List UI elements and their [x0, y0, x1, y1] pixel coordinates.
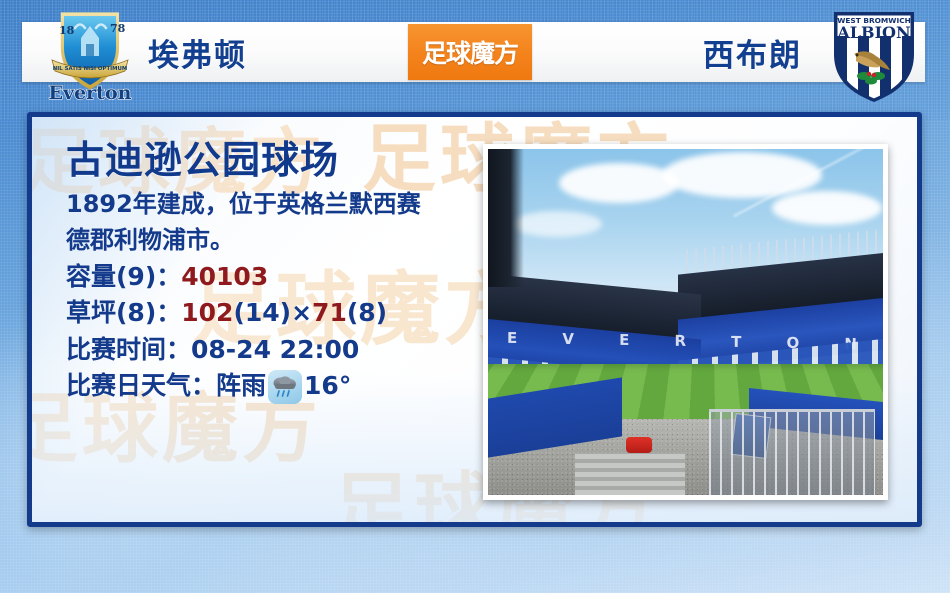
- weather-row: 比赛日天气： 阵雨: [66, 368, 486, 405]
- stadium-description-line1: 1892年建成，位于英格兰默西赛: [66, 187, 486, 221]
- match-info-card: 18 78 NIL SATIS NISI OPTIMUM Everton 埃弗顿…: [0, 0, 950, 593]
- weather-temperature: 16°: [304, 368, 351, 405]
- pitch-length-rank: (14): [233, 298, 291, 327]
- weather-label: 比赛日天气：: [66, 368, 216, 405]
- stadium-photo-frame[interactable]: E V E R T O N: [483, 144, 888, 500]
- pitch-row: 草坪(8)：102(14)×71(8): [66, 295, 486, 332]
- shower-rain-icon: [268, 370, 302, 404]
- brand-logo-text: 足球魔方: [422, 34, 518, 70]
- photo-cloud: [512, 211, 602, 237]
- goodison-park-stadium-photo: E V E R T O N: [488, 149, 883, 495]
- stadium-description-line2: 德郡利物浦市。: [66, 223, 486, 257]
- photo-cloud: [772, 191, 882, 225]
- pitch-label: 草坪(8)：: [66, 298, 181, 327]
- capacity-label: 容量(9)：: [66, 262, 181, 291]
- everton-crest: 18 78 NIL SATIS NISI OPTIMUM Everton: [42, 4, 138, 104]
- pitch-length: 102: [181, 298, 233, 327]
- west-bromwich-albion-crest: WEST BROMWICH ALBION: [828, 6, 920, 104]
- match-time-row: 比赛时间：08-24 22:00: [66, 332, 486, 369]
- stadium-info-text: 古迪逊公园球场 1892年建成，位于英格兰默西赛 德郡利物浦市。 容量(9)：4…: [66, 139, 486, 405]
- match-time-label: 比赛时间：: [66, 335, 191, 364]
- home-team-name: 埃弗顿: [148, 22, 247, 82]
- svg-text:ALBION: ALBION: [836, 23, 910, 42]
- brand-logo[interactable]: 足球魔方: [408, 24, 532, 80]
- weather-condition: 阵雨: [216, 368, 266, 405]
- capacity-value: 40103: [181, 262, 268, 291]
- photo-railing: [709, 409, 875, 495]
- away-team-name: 西布朗: [703, 22, 802, 82]
- photo-dark-edge-left: [488, 149, 524, 287]
- pitch-separator: ×: [291, 298, 312, 327]
- stadium-name: 古迪逊公园球场: [66, 139, 486, 183]
- svg-text:18: 18: [59, 24, 75, 37]
- pitch-width-rank: (8): [347, 298, 387, 327]
- svg-text:78: 78: [110, 22, 126, 35]
- capacity-row: 容量(9)：40103: [66, 259, 486, 296]
- photo-steps: [575, 453, 686, 495]
- match-time-value: 08-24 22:00: [191, 335, 359, 364]
- svg-text:NIL SATIS NISI OPTIMUM: NIL SATIS NISI OPTIMUM: [53, 66, 128, 72]
- svg-text:Everton: Everton: [49, 82, 132, 104]
- photo-red-equipment-bag: [626, 437, 652, 453]
- photo-cloud: [559, 163, 679, 203]
- pitch-width: 71: [312, 298, 347, 327]
